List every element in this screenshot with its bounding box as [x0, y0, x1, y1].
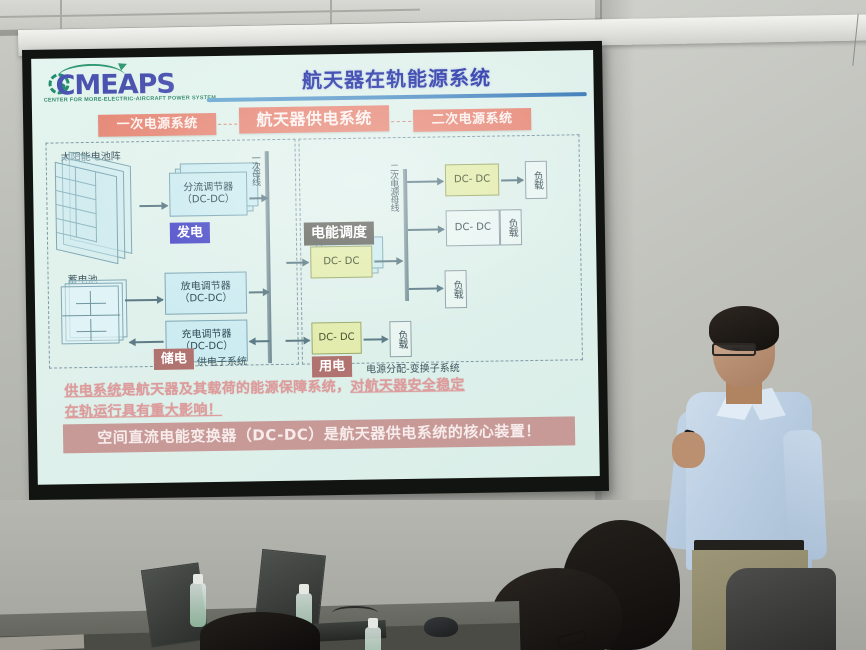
arrow-bus-to-dispatch — [286, 262, 308, 264]
converter-label: DC- DC — [455, 221, 491, 234]
slide-surface: CMEAPS CENTER FOR MORE-ELECTRIC-AIRCRAFT… — [31, 50, 600, 485]
arrow-shunt-to-bus — [249, 197, 267, 199]
chip-primary-power-system: 一次电源系统 — [98, 113, 216, 137]
logo-subtitle: CENTER FOR MORE-ELECTRIC-AIRCRAFT POWER … — [44, 95, 217, 104]
slide-title: 航天器在轨能源系统 — [231, 61, 561, 95]
chip-spacecraft-power-supply-system: 航天器供电系统 — [239, 105, 389, 133]
statement-line-1: 供电系统是航天器及其载荷的能源保障系统，对航天器安全稳定 — [64, 372, 574, 400]
converter-label: DC- DC — [318, 332, 354, 345]
label-power-supply-subsystem: 供电子系统 — [197, 353, 247, 369]
block-line1: 分流调节器 — [183, 181, 233, 194]
water-bottle-3 — [365, 627, 381, 650]
statement-underlined-c: 在轨运行具有重大影响！ — [65, 402, 223, 420]
arrow-dcdc-use-to-load — [364, 338, 388, 340]
arrow-discharge-to-bus — [249, 291, 269, 293]
load-2: 负载 — [500, 209, 523, 245]
projection-screen: CMEAPS CENTER FOR MORE-ELECTRIC-AIRCRAFT… — [22, 41, 609, 500]
water-bottle-1 — [190, 583, 206, 627]
glasses-icon — [712, 343, 756, 356]
statement-underlined-b: 对航天器安全稳定 — [350, 377, 465, 395]
arrow-bus-to-dcdc-2 — [408, 228, 444, 231]
chip-connector-left — [218, 124, 237, 125]
block-dcdc-use: DC- DC — [311, 322, 361, 355]
audience-head-3 — [200, 612, 320, 650]
arrow-solar-to-shunt — [139, 205, 167, 207]
converter-label: DC- DC — [454, 173, 490, 186]
statement-line-2: 在轨运行具有重大影响！ — [65, 399, 223, 421]
badge-consumption: 用电 — [312, 356, 352, 378]
room-photo: Redleaf CMEAPS CENTER FOR MORE-ELECTRIC-… — [0, 0, 866, 650]
load-label: 负载 — [530, 171, 543, 189]
cmeaps-logo: CMEAPS CENTER FOR MORE-ELECTRIC-AIRCRAFT… — [41, 60, 212, 111]
statement-plain: 是航天器及其载荷的能源保障系统， — [121, 379, 350, 399]
arrow-bus-to-charge — [250, 340, 270, 342]
chip-connector-right — [391, 121, 411, 122]
badge-storage: 储电 — [154, 348, 194, 370]
battery-icon — [61, 285, 124, 348]
chip-secondary-power-system: 二次电源系统 — [413, 108, 531, 132]
badge-power-dispatch: 电能调度 — [304, 221, 374, 245]
badge-generation: 发电 — [170, 222, 210, 244]
load-1: 负载 — [525, 161, 548, 199]
arrow-dcdc1-to-load — [501, 179, 523, 181]
block-line2: （DC-DC） — [182, 194, 235, 207]
block-dcdc-2: DC- DC — [446, 210, 501, 247]
block-line2: （DC-DC） — [179, 293, 232, 306]
load-label: 负载 — [394, 330, 407, 348]
label-primary-bus: 一次母线 — [249, 153, 263, 185]
arrow-bus-to-dcdc-1 — [407, 180, 443, 183]
load-label: 负载 — [449, 280, 462, 298]
label-distribution-subsystem: 电源分配-变换子系统 — [366, 359, 460, 375]
block-line1: 充电调节器 — [181, 328, 231, 341]
statement-underlined-a: 供电系统 — [64, 382, 121, 399]
office-chair — [726, 568, 836, 650]
arrow-dispatch-to-secondary-bus — [374, 260, 402, 262]
solar-array-icon — [51, 162, 138, 259]
load-4: 负载 — [389, 321, 412, 357]
block-discharge-regulator: 放电调节器 （DC-DC） — [165, 272, 248, 315]
block-dcdc-dispatch: DC- DC — [310, 246, 372, 279]
load-3: 负载 — [445, 270, 468, 308]
presenter-hand — [672, 432, 705, 468]
arrow-bus-to-load-3 — [409, 287, 443, 290]
arrow-battery-to-discharge — [125, 299, 163, 302]
computer-mouse — [424, 617, 458, 637]
block-dcdc-1: DC- DC — [445, 164, 499, 197]
load-label: 负载 — [504, 218, 517, 236]
block-line1: 放电调节器 — [181, 280, 231, 293]
label-secondary-bus: 二次电源母线 — [387, 163, 401, 211]
arrow-to-dcdc-use — [286, 340, 310, 342]
final-banner: 空间直流电能变换器（DC-DC）是航天器供电系统的核心装置！ — [63, 416, 575, 453]
paper-sheet — [0, 634, 84, 650]
block-shunt-regulator: 分流调节器 （DC-DC） — [169, 171, 248, 216]
converter-label: DC- DC — [323, 255, 359, 268]
